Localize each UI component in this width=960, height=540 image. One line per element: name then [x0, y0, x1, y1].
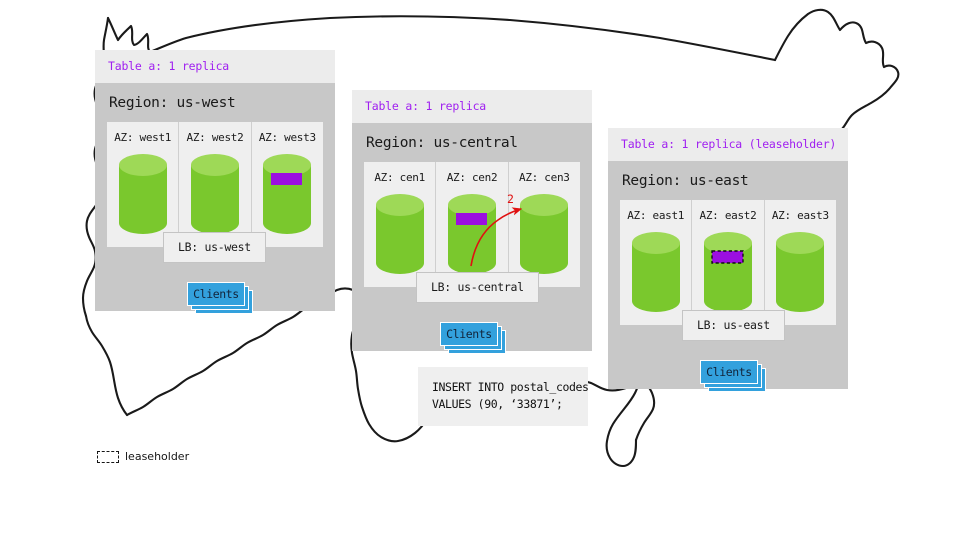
region-panel-us-west: Table a: 1 replica Region: us-west AZ: w…	[95, 50, 335, 311]
az-label: AZ: east3	[772, 209, 829, 222]
replica-marker	[271, 173, 302, 185]
az-cell-east3[interactable]: AZ: east3	[765, 200, 836, 325]
replica-marker	[456, 213, 487, 225]
node-cylinder-west1	[117, 151, 169, 241]
clients-label: Clients	[440, 322, 498, 346]
clients-stack-us-central[interactable]: Clients	[440, 322, 498, 346]
dashed-rect-icon	[97, 451, 119, 463]
az-row: AZ: east1 AZ: east2	[620, 200, 836, 325]
diagram-canvas: 2 Table a: 1 replica Region: us-west AZ:…	[0, 0, 960, 540]
az-row: AZ: cen1 AZ: cen2	[364, 162, 580, 287]
az-cell-cen1[interactable]: AZ: cen1	[364, 162, 436, 287]
load-balancer-us-west[interactable]: LB: us-west	[163, 232, 266, 263]
region-replica-header: Table a: 1 replica	[352, 90, 592, 123]
region-title: Region: us-west	[95, 83, 335, 122]
region-panel-us-east: Table a: 1 replica (leaseholder) Region:…	[608, 128, 848, 389]
node-cylinder-west3	[261, 151, 313, 241]
az-cell-cen2[interactable]: AZ: cen2	[436, 162, 508, 287]
clients-stack-us-west[interactable]: Clients	[187, 282, 245, 306]
node-cylinder-east3	[774, 229, 826, 319]
clients-stack-us-east[interactable]: Clients	[700, 360, 758, 384]
node-cylinder-cen3	[518, 191, 570, 281]
leaseholder-replica-marker	[712, 251, 743, 263]
az-label: AZ: west2	[187, 131, 244, 144]
az-label: AZ: east2	[700, 209, 757, 222]
node-cylinder-east1	[630, 229, 682, 319]
az-label: AZ: east1	[627, 209, 684, 222]
region-title: Region: us-central	[352, 123, 592, 162]
az-label: AZ: cen2	[447, 171, 498, 184]
region-replica-header: Table a: 1 replica	[95, 50, 335, 83]
az-label: AZ: west3	[259, 131, 316, 144]
az-cell-west3[interactable]: AZ: west3	[252, 122, 323, 247]
load-balancer-us-central[interactable]: LB: us-central	[416, 272, 539, 303]
az-label: AZ: cen1	[374, 171, 425, 184]
load-balancer-us-east[interactable]: LB: us-east	[682, 310, 785, 341]
node-cylinder-west2	[189, 151, 241, 241]
legend-label: leaseholder	[125, 450, 189, 463]
region-title: Region: us-east	[608, 161, 848, 200]
arrow-step-label: 2	[507, 192, 514, 206]
az-cell-east2[interactable]: AZ: east2	[692, 200, 764, 325]
az-cell-west2[interactable]: AZ: west2	[179, 122, 251, 247]
az-row: AZ: west1 AZ: west2	[107, 122, 323, 247]
region-replica-header: Table a: 1 replica (leaseholder)	[608, 128, 848, 161]
node-cylinder-cen2	[446, 191, 498, 281]
az-cell-west1[interactable]: AZ: west1	[107, 122, 179, 247]
az-cell-cen3[interactable]: AZ: cen3	[509, 162, 580, 287]
clients-label: Clients	[700, 360, 758, 384]
legend: leaseholder	[97, 450, 189, 463]
az-label: AZ: west1	[114, 131, 171, 144]
az-cell-east1[interactable]: AZ: east1	[620, 200, 692, 325]
sql-statement-box: INSERT INTO postal_codes VALUES (90, ‘33…	[418, 367, 588, 426]
node-cylinder-cen1	[374, 191, 426, 281]
clients-label: Clients	[187, 282, 245, 306]
az-label: AZ: cen3	[519, 171, 570, 184]
region-panel-us-central: Table a: 1 replica Region: us-central AZ…	[352, 90, 592, 351]
node-cylinder-east2	[702, 229, 754, 319]
